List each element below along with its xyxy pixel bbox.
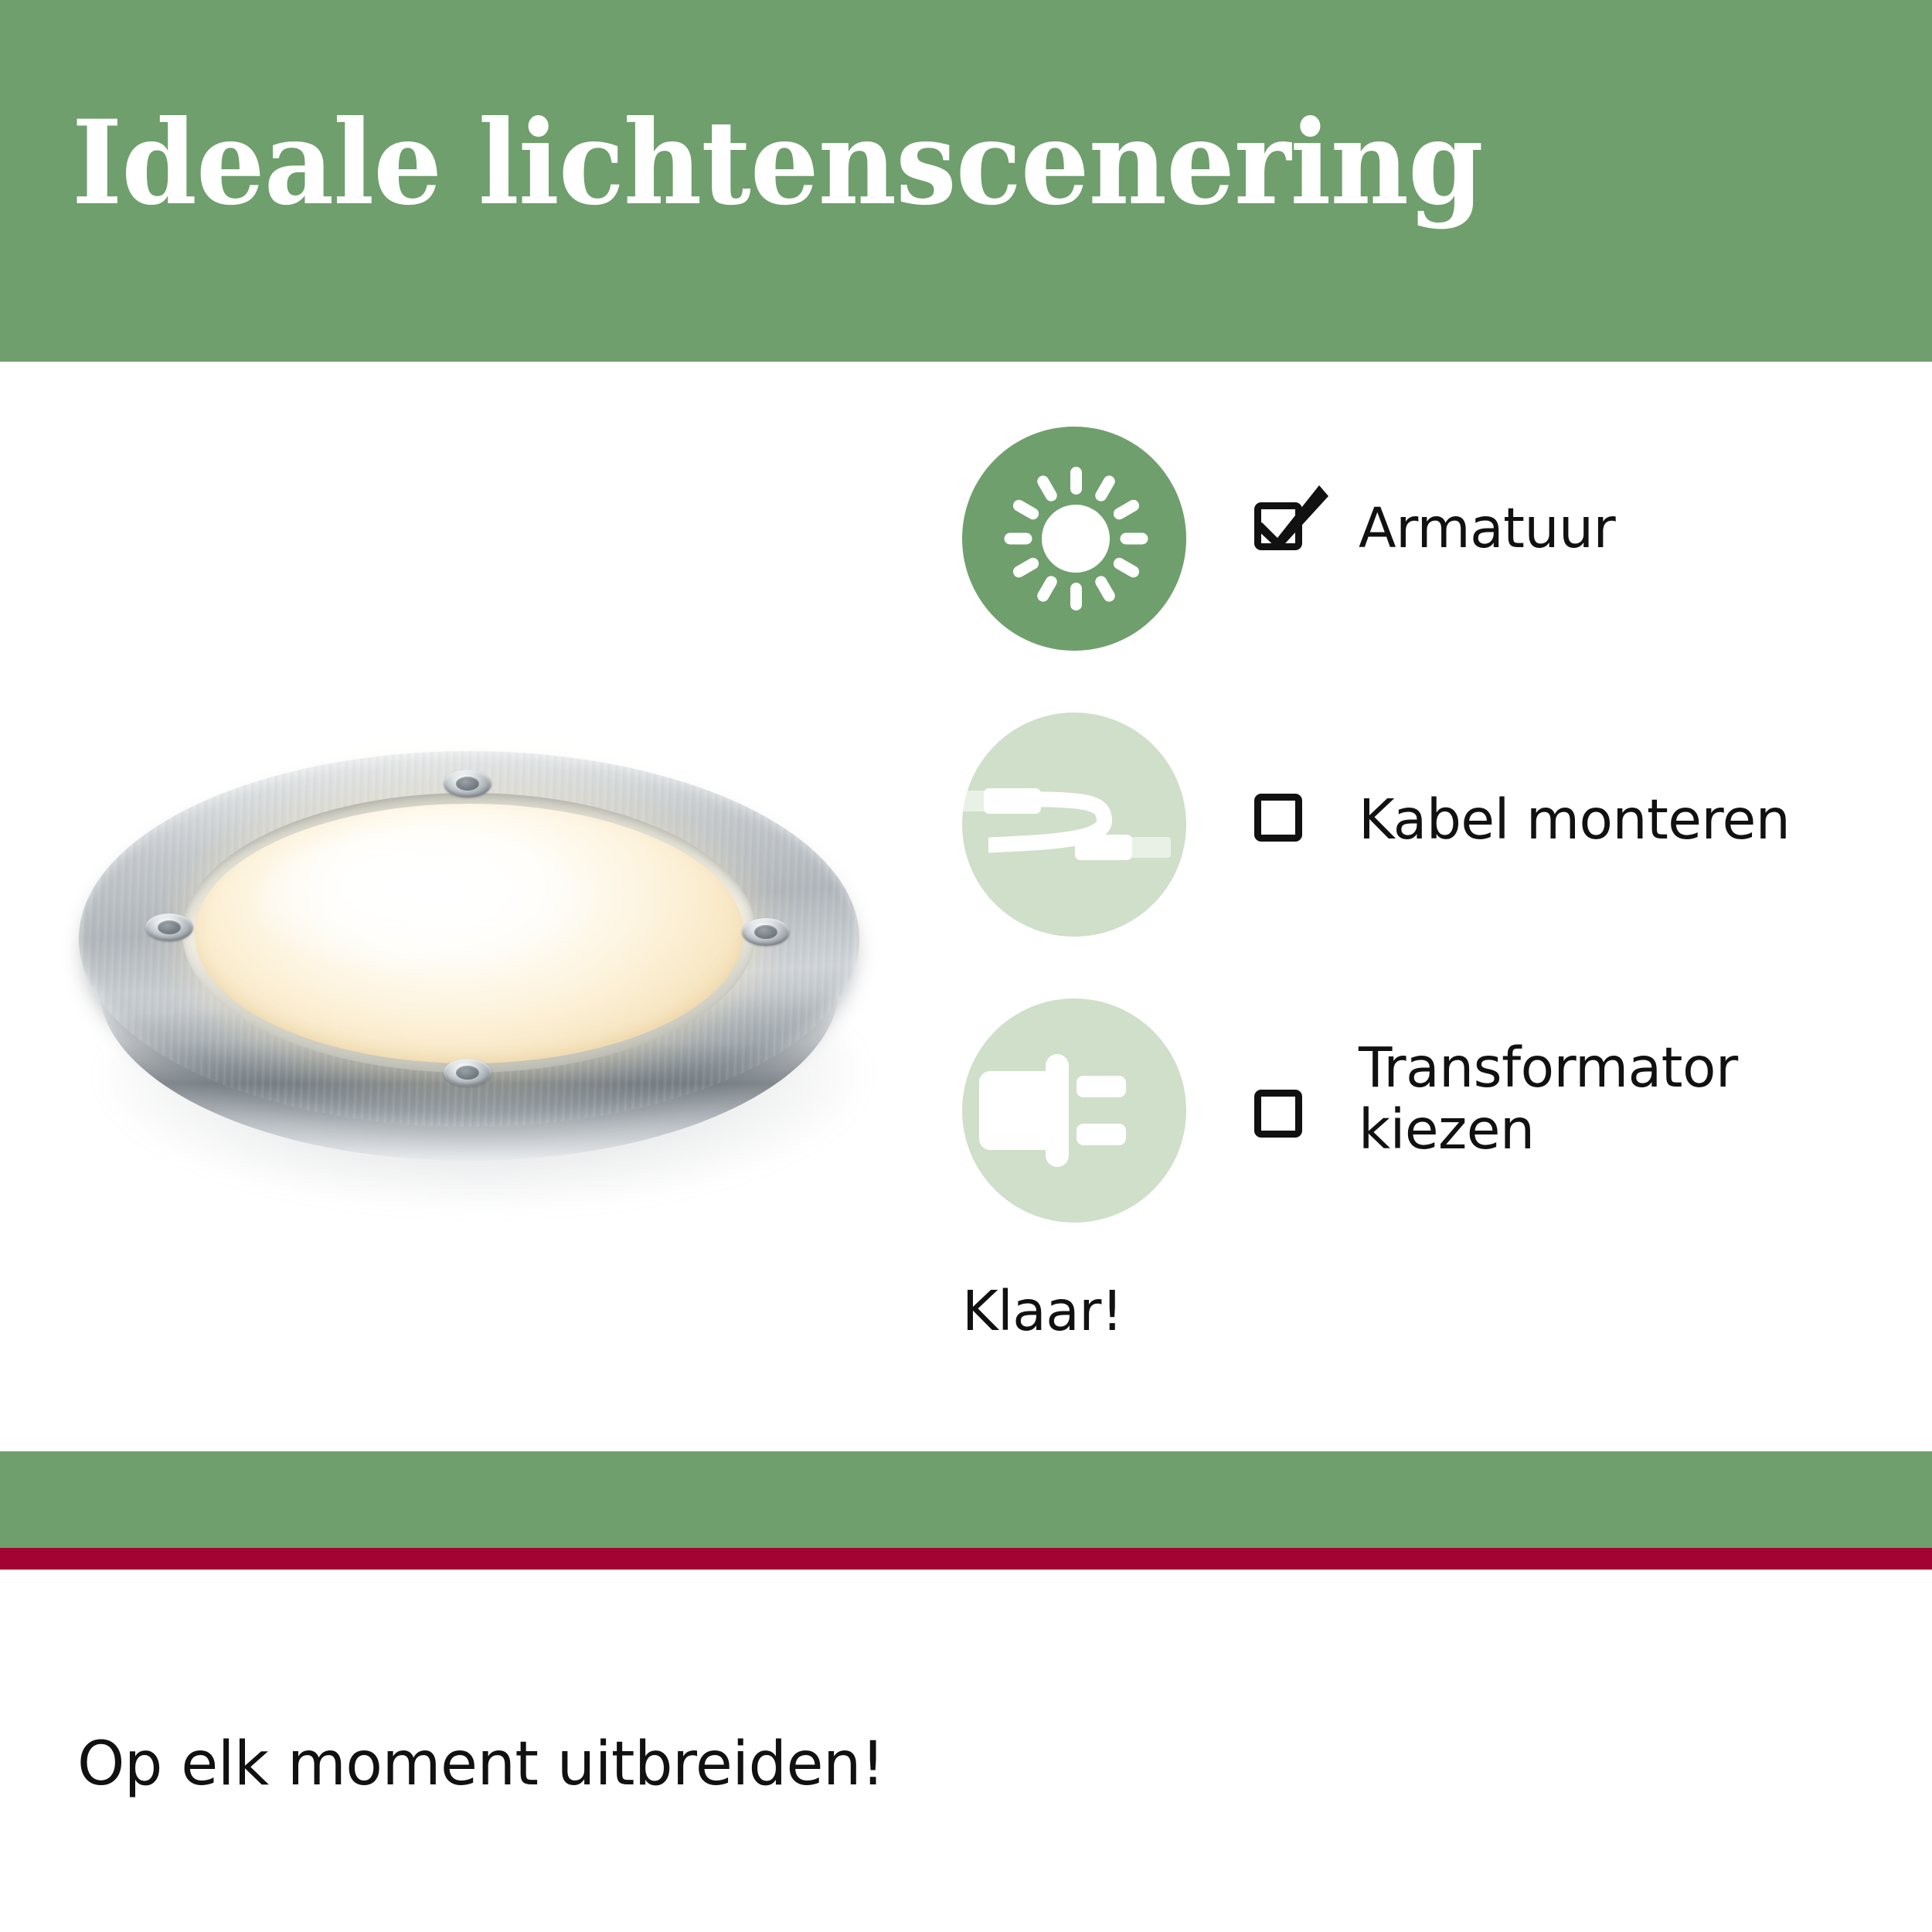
checkbox-transformator[interactable] — [1254, 1090, 1302, 1138]
checklist-item-transformator[interactable]: Transformator kiezen — [962, 998, 1905, 1284]
footer-red-band — [0, 1548, 1932, 1570]
plug-flange — [1046, 1054, 1069, 1167]
lamp-screw-bottom — [444, 1059, 492, 1087]
cable-connector-right — [1075, 835, 1132, 860]
checkbox-kabel[interactable] — [1254, 794, 1302, 842]
sun-ray — [1011, 556, 1041, 580]
checkbox-armatuur[interactable] — [1254, 502, 1302, 550]
footer-green-band — [0, 1451, 1932, 1548]
page-title: Ideale lichtenscenering — [72, 102, 1653, 225]
footer-tagline: Op elk moment uitbreiden! — [77, 1730, 885, 1799]
sun-ray — [1011, 498, 1041, 522]
product-image — [31, 696, 927, 1283]
cable-tail-left — [944, 791, 987, 811]
lamp-screw-left — [145, 913, 193, 941]
cable-icon — [951, 784, 1206, 866]
checklist-done-label: Klaar! — [962, 1279, 1123, 1343]
promo-infographic-page: Ideale lichtenscenering — [0, 0, 1932, 1932]
lamp-screw-top — [444, 770, 492, 798]
power-plug-icon-badge — [962, 998, 1186, 1223]
checklist-item-armatuur[interactable]: Armatuur — [962, 427, 1905, 713]
sun-ray — [1036, 574, 1060, 604]
sun-icon — [1002, 465, 1149, 612]
cable-icon-badge — [962, 713, 1186, 937]
lamp-glow-highlight — [257, 827, 589, 974]
power-plug-icon — [979, 1054, 1157, 1167]
sun-ray — [1036, 474, 1060, 504]
lamp-screw-right — [742, 918, 790, 946]
installation-checklist: Armatuur Kabel monteren — [962, 427, 1905, 1284]
sun-ray — [1070, 583, 1082, 611]
sun-ray — [1111, 498, 1141, 522]
checklist-label-armatuur: Armatuur — [1359, 498, 1615, 560]
sun-core — [1042, 505, 1110, 573]
header-band: Ideale lichtenscenering — [0, 0, 1932, 362]
sun-ray — [1121, 533, 1148, 545]
sun-ray — [1005, 533, 1032, 545]
checklist-item-kabel[interactable]: Kabel monteren — [962, 713, 1905, 998]
sun-ray — [1094, 474, 1117, 504]
checklist-label-kabel: Kabel monteren — [1359, 789, 1790, 851]
checklist-label-transformator: Transformator kiezen — [1359, 1037, 1738, 1160]
plug-prong-bottom — [1077, 1124, 1126, 1145]
plug-body — [979, 1071, 1056, 1150]
sun-icon-badge — [962, 427, 1186, 651]
plug-prong-top — [1077, 1076, 1126, 1097]
cable-tail-right — [1128, 837, 1171, 858]
sun-ray — [1094, 574, 1117, 604]
sun-ray — [1111, 556, 1141, 580]
sun-ray — [1070, 467, 1082, 495]
